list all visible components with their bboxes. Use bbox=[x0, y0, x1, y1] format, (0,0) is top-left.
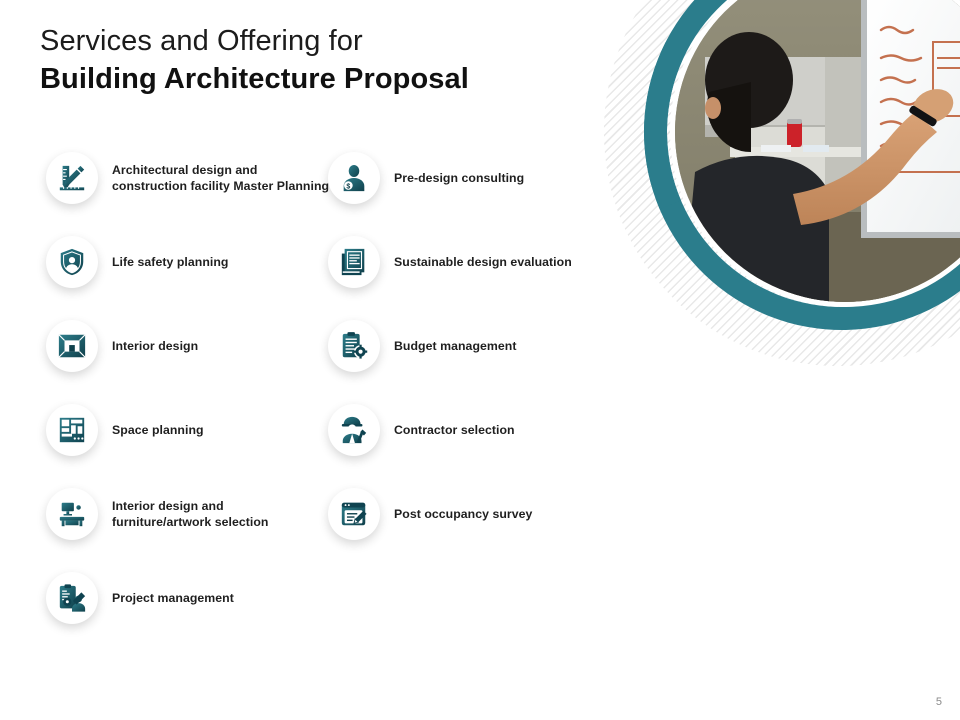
icon-badge bbox=[46, 236, 98, 288]
hatched-crescent bbox=[604, 0, 960, 366]
teal-ring-arc bbox=[593, 0, 960, 381]
list-item[interactable]: Space planning bbox=[46, 404, 336, 456]
list-item-label: Life safety planning bbox=[112, 254, 228, 270]
icon-badge: $ bbox=[328, 152, 380, 204]
ruler-pencil-icon bbox=[57, 163, 87, 193]
icon-badge bbox=[46, 488, 98, 540]
floor-plan-icon bbox=[57, 415, 87, 445]
shield-person-icon bbox=[57, 247, 87, 277]
icon-badge bbox=[328, 236, 380, 288]
document-stack-icon bbox=[339, 247, 369, 277]
list-item[interactable]: Sustainable design evaluation bbox=[328, 236, 588, 288]
whiteboard-photo bbox=[675, 0, 960, 302]
svg-text:$: $ bbox=[346, 183, 350, 190]
desk-furniture-icon bbox=[57, 499, 87, 529]
list-item-label: Contractor selection bbox=[394, 422, 515, 438]
icon-badge bbox=[46, 152, 98, 204]
services-left-column: Architectural design and construction fa… bbox=[46, 152, 336, 656]
list-item-label: Post occupancy survey bbox=[394, 506, 532, 522]
list-item[interactable]: Post occupancy survey bbox=[328, 488, 588, 540]
consultant-dollar-icon: $ bbox=[339, 163, 369, 193]
list-item-label: Project management bbox=[112, 590, 234, 606]
list-item[interactable]: Interior design bbox=[46, 320, 336, 372]
list-item[interactable]: Contractor selection bbox=[328, 404, 588, 456]
services-right-column: $ Pre-design consulting bbox=[328, 152, 588, 572]
title-line-primary: Services and Offering for bbox=[40, 22, 560, 60]
list-item[interactable]: Architectural design and construction fa… bbox=[46, 152, 336, 204]
icon-badge bbox=[328, 404, 380, 456]
list-item-label: Budget management bbox=[394, 338, 516, 354]
title-line-secondary: Building Architecture Proposal bbox=[40, 60, 560, 98]
list-item[interactable]: Budget management bbox=[328, 320, 588, 372]
slide-canvas: Services and Offering for Building Archi… bbox=[0, 0, 960, 720]
list-item-label: Interior design bbox=[112, 338, 198, 354]
clipboard-gear-person-icon bbox=[57, 583, 87, 613]
clipboard-gear-icon bbox=[339, 331, 369, 361]
list-item[interactable]: Project management bbox=[46, 572, 336, 624]
page-title: Services and Offering for Building Archi… bbox=[40, 22, 560, 99]
icon-badge bbox=[46, 320, 98, 372]
icon-badge bbox=[328, 488, 380, 540]
room-perspective-icon bbox=[57, 331, 87, 361]
page-number: 5 bbox=[936, 696, 942, 708]
list-item-label: Architectural design and construction fa… bbox=[112, 162, 329, 195]
photo-illustration bbox=[675, 0, 960, 302]
list-item-label: Interior design and furniture/artwork se… bbox=[112, 498, 268, 531]
icon-badge bbox=[46, 572, 98, 624]
icon-badge bbox=[328, 320, 380, 372]
list-item[interactable]: $ Pre-design consulting bbox=[328, 152, 588, 204]
list-item-label: Sustainable design evaluation bbox=[394, 254, 572, 270]
teal-ring-arc-cap bbox=[584, 0, 960, 390]
list-item[interactable]: Interior design and furniture/artwork se… bbox=[46, 488, 336, 540]
list-item-label: Space planning bbox=[112, 422, 204, 438]
icon-badge bbox=[46, 404, 98, 456]
worker-helmet-icon bbox=[339, 415, 369, 445]
list-item[interactable]: Life safety planning bbox=[46, 236, 336, 288]
list-item-label: Pre-design consulting bbox=[394, 170, 524, 186]
survey-edit-icon bbox=[339, 499, 369, 529]
